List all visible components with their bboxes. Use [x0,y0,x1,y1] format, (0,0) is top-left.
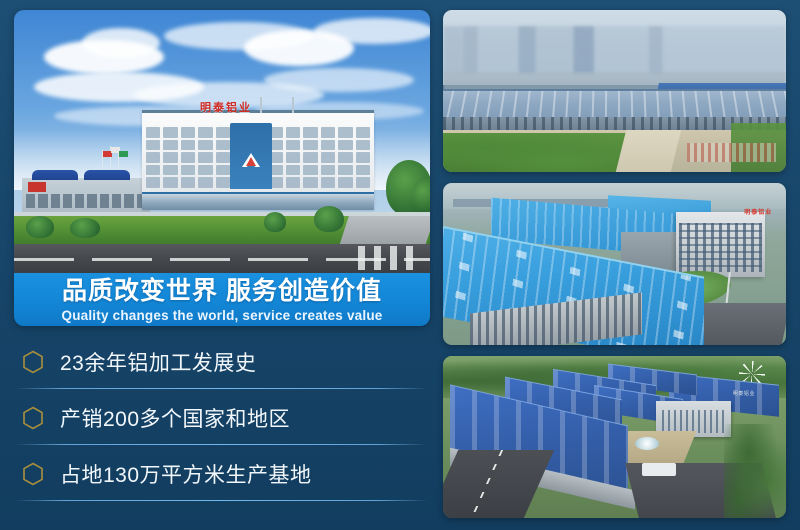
aerial-factory-wide[interactable] [443,10,786,172]
list-item-label: 产销200多个国家和地区 [60,403,290,433]
fountain [635,437,659,450]
shrub [70,218,100,238]
office-tower [676,212,765,277]
hexagon-outline-icon [22,350,44,374]
main-office-building: 明泰铝业 [142,110,374,210]
list-item[interactable]: 产销200多个国家和地区 [14,390,430,446]
shrub [26,216,54,238]
slogan-chinese: 品质改变世界 服务创造价值 [62,278,382,304]
list-item[interactable]: 占地130万平方米生产基地 [14,446,430,502]
rendering-company-sign: 明泰铝业 [733,390,755,397]
blue-roof-cap [32,170,78,180]
window-row [26,194,146,208]
access-road [616,130,681,172]
tower-company-sign: 明泰铝业 [744,207,772,216]
city-skyline [443,26,786,75]
hexagon-outline-icon [22,462,44,486]
slogan-banner: 品质改变世界 服务创造价值 Quality changes the world,… [14,273,430,326]
parking-lot [687,143,776,162]
aerial-factory-wide-image [443,10,786,172]
company-headquarters-photo[interactable]: 明泰铝业 [14,10,430,326]
list-item-label: 占地130万平方米生产基地 [60,459,312,489]
slogan-english: Quality changes the world, service creat… [62,308,383,323]
blue-roof-cap [84,170,130,180]
promo-page-root: 明泰铝业 [0,0,800,530]
cloud-shape [264,68,414,92]
rooftop-company-sign: 明泰铝业 [200,99,252,115]
shrub [314,206,344,232]
aerial-factory-workshops[interactable]: 明泰铝业 [443,183,786,345]
list-divider [14,500,428,501]
feature-list: 23余年铝加工发展史 产销200多个国家和地区 占地130万平方米生产基地 [14,334,430,502]
list-item[interactable]: 23余年铝加工发展史 [14,334,430,390]
building-entrance-facade [230,123,272,189]
treeline [724,424,786,518]
industrial-park-rendering[interactable]: 明泰铝业 [443,356,786,518]
list-divider [14,388,428,389]
driveway [339,216,430,246]
building-base [142,192,374,210]
headquarters-photo-image: 明泰铝业 [14,10,430,273]
cloud-shape [314,18,430,44]
red-wall-banner [28,182,46,192]
list-divider [14,444,428,445]
gatehouse [642,463,676,476]
tower-windows [679,223,762,272]
industrial-park-rendering-image: 明泰铝业 [443,356,786,518]
hexagon-outline-icon [22,406,44,430]
list-item-label: 23余年铝加工发展史 [60,347,256,377]
cloud-shape [82,28,160,58]
tree [412,178,430,214]
flag-cloth [119,151,128,157]
shrub [264,212,286,232]
aerial-factory-workshops-image: 明泰铝业 [443,183,786,345]
